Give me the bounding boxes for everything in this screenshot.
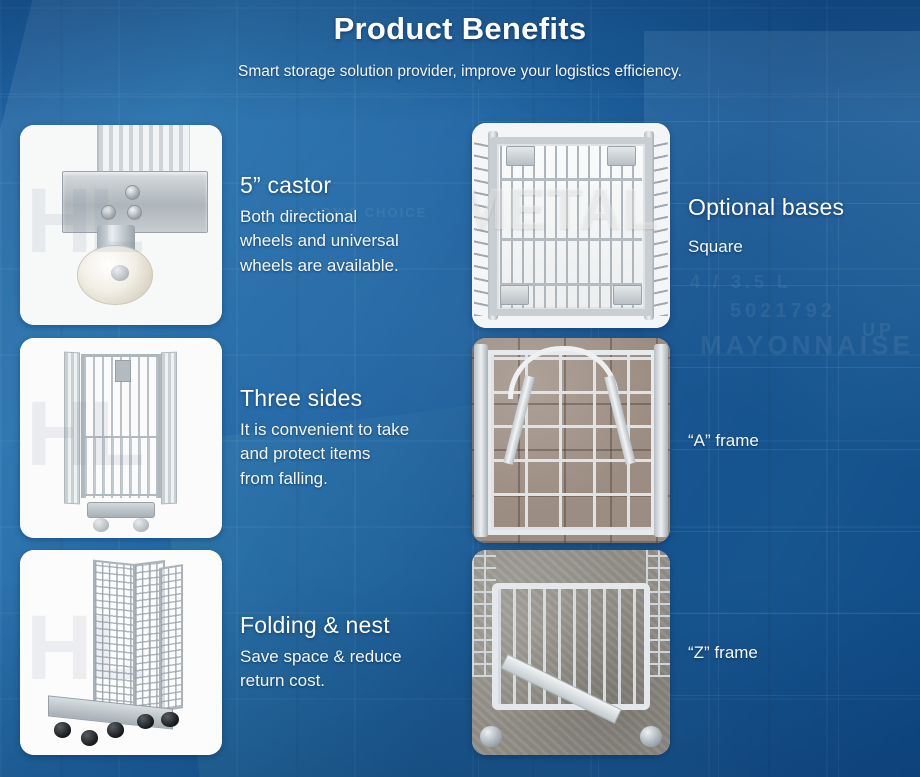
- feature-body-line: wheels are available.: [240, 254, 399, 278]
- base-image-square: METAL: [472, 123, 670, 328]
- feature-row-castor: HL 5” castor Both directional wheels and…: [20, 125, 460, 325]
- base-label-a-frame: “A” frame: [688, 431, 759, 451]
- folding-nest-photo-art: [20, 550, 222, 755]
- feature-row-three-sides: HL Three sides It is convenient to take …: [20, 338, 460, 538]
- three-sides-photo-art: [20, 338, 222, 538]
- feature-image-three-sides: HL: [20, 338, 222, 538]
- feature-body: Save space & reduce return cost.: [240, 645, 402, 693]
- base-image-a-frame: [472, 338, 670, 543]
- page-subtitle: Smart storage solution provider, improve…: [0, 63, 920, 81]
- base-image-z-frame: [472, 550, 670, 755]
- base-text-a-frame: “A” frame: [670, 431, 759, 451]
- base-label-square: Square: [688, 237, 844, 257]
- product-benefits-poster: MAYONNAISE 5021792 4 / 3.5 L UP LADY'S C…: [0, 0, 920, 777]
- feature-heading: Three sides: [240, 385, 409, 412]
- feature-text-three-sides: Three sides It is convenient to take and…: [222, 385, 409, 490]
- a-frame-photo-art: [472, 338, 670, 543]
- base-row-square: METAL Optional bases Square: [472, 123, 902, 328]
- feature-row-folding-nest: HL Folding & nest Save space & reduce re…: [20, 550, 460, 755]
- base-row-z-frame: “Z” frame: [472, 550, 902, 755]
- base-label-z-frame: “Z” frame: [688, 643, 758, 663]
- feature-text-castor: 5” castor Both directional wheels and un…: [222, 172, 399, 277]
- feature-heading: Folding & nest: [240, 612, 402, 639]
- feature-body-line: return cost.: [240, 669, 402, 693]
- feature-image-castor: HL: [20, 125, 222, 325]
- optional-bases-heading: Optional bases: [688, 194, 844, 221]
- feature-body-line: and protect items: [240, 442, 409, 466]
- feature-heading: 5” castor: [240, 172, 399, 199]
- base-row-a-frame: “A” frame: [472, 338, 902, 543]
- square-base-photo-art: [472, 123, 670, 328]
- feature-body-line: It is convenient to take: [240, 418, 409, 442]
- castor-photo-art: [20, 125, 222, 325]
- feature-body: Both directional wheels and universal wh…: [240, 205, 399, 277]
- z-frame-photo-art: [472, 550, 670, 755]
- base-text-z-frame: “Z” frame: [670, 643, 758, 663]
- feature-body: It is convenient to take and protect ite…: [240, 418, 409, 490]
- base-text-square: Optional bases Square: [670, 194, 844, 257]
- feature-text-folding-nest: Folding & nest Save space & reduce retur…: [222, 612, 402, 693]
- feature-body-line: wheels and universal: [240, 229, 399, 253]
- feature-body-line: from falling.: [240, 467, 409, 491]
- page-title: Product Benefits: [0, 11, 920, 47]
- feature-body-line: Both directional: [240, 205, 399, 229]
- poster-header: Product Benefits Smart storage solution …: [0, 0, 920, 100]
- feature-image-folding-nest: HL: [20, 550, 222, 755]
- feature-body-line: Save space & reduce: [240, 645, 402, 669]
